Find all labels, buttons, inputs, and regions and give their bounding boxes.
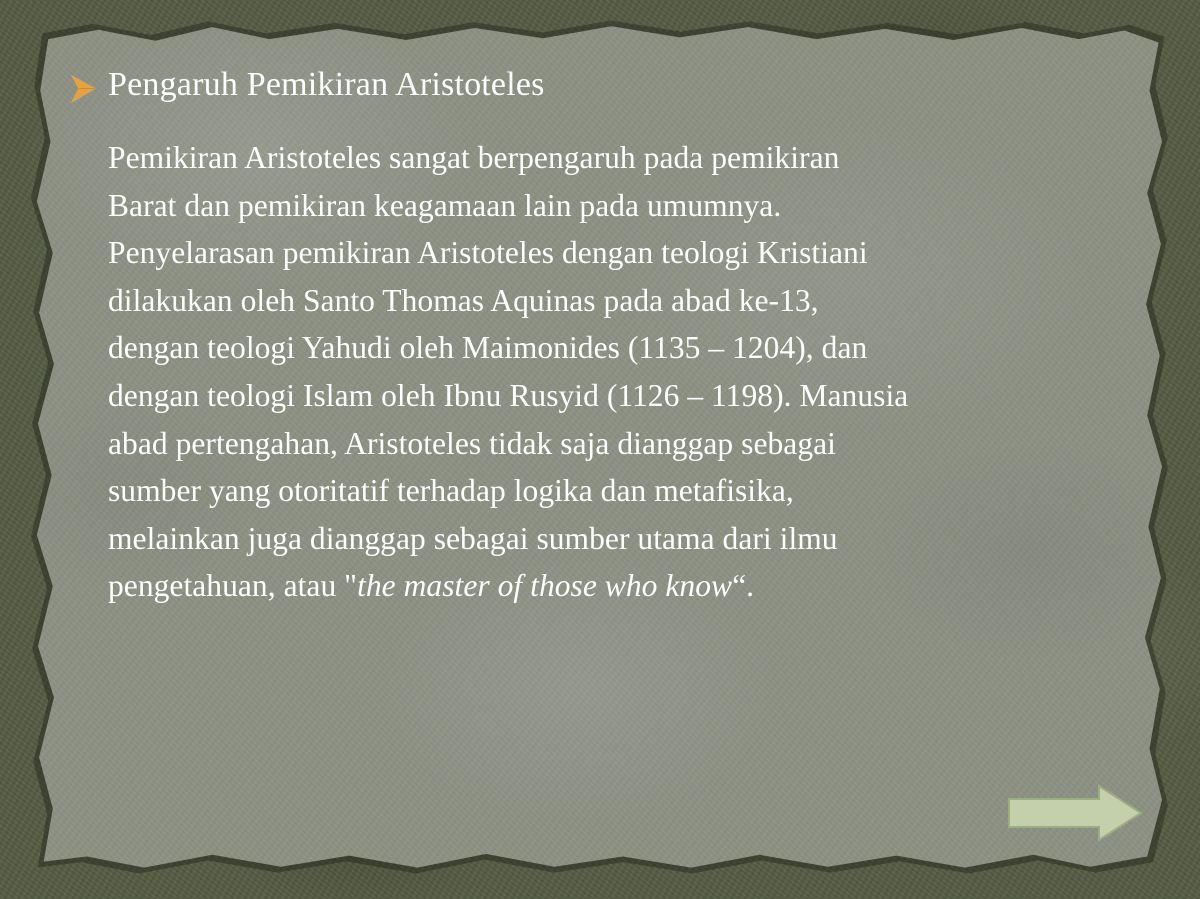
- body-line: Penyelarasan pemikiran Aristoteles denga…: [108, 229, 1098, 277]
- body-line: melainkan juga dianggap sebagai sumber u…: [108, 515, 1098, 563]
- slide-content: Pengaruh Pemikiran Aristoteles Pemikiran…: [0, 0, 1200, 899]
- body-line: abad pertengahan, Aristoteles tidak saja…: [108, 420, 1098, 468]
- body-line-quote: pengetahuan, atau "the master of those w…: [108, 562, 1098, 610]
- body-paragraph: Pemikiran Aristoteles sangat berpengaruh…: [108, 134, 1098, 610]
- quote-italic-text: the master of those who know: [357, 568, 732, 603]
- title-row: Pengaruh Pemikiran Aristoteles: [68, 63, 1118, 110]
- slide: Pengaruh Pemikiran Aristoteles Pemikiran…: [0, 0, 1200, 899]
- right-arrow-icon[interactable]: [1007, 784, 1143, 842]
- body-line: dilakukan oleh Santo Thomas Aquinas pada…: [108, 277, 1098, 325]
- arrow-head-bullet-icon: [68, 68, 98, 110]
- body-line: dengan teologi Islam oleh Ibnu Rusyid (1…: [108, 372, 1098, 420]
- body-line: Pemikiran Aristoteles sangat berpengaruh…: [108, 134, 1098, 182]
- body-line: sumber yang otoritatif terhadap logika d…: [108, 467, 1098, 515]
- quote-trail-text: “.: [732, 568, 754, 603]
- body-line: Barat dan pemikiran keagamaan lain pada …: [108, 182, 1098, 230]
- quote-lead-text: pengetahuan, atau ": [108, 568, 357, 603]
- page-title: Pengaruh Pemikiran Aristoteles: [98, 63, 545, 107]
- body-line: dengan teologi Yahudi oleh Maimonides (1…: [108, 324, 1098, 372]
